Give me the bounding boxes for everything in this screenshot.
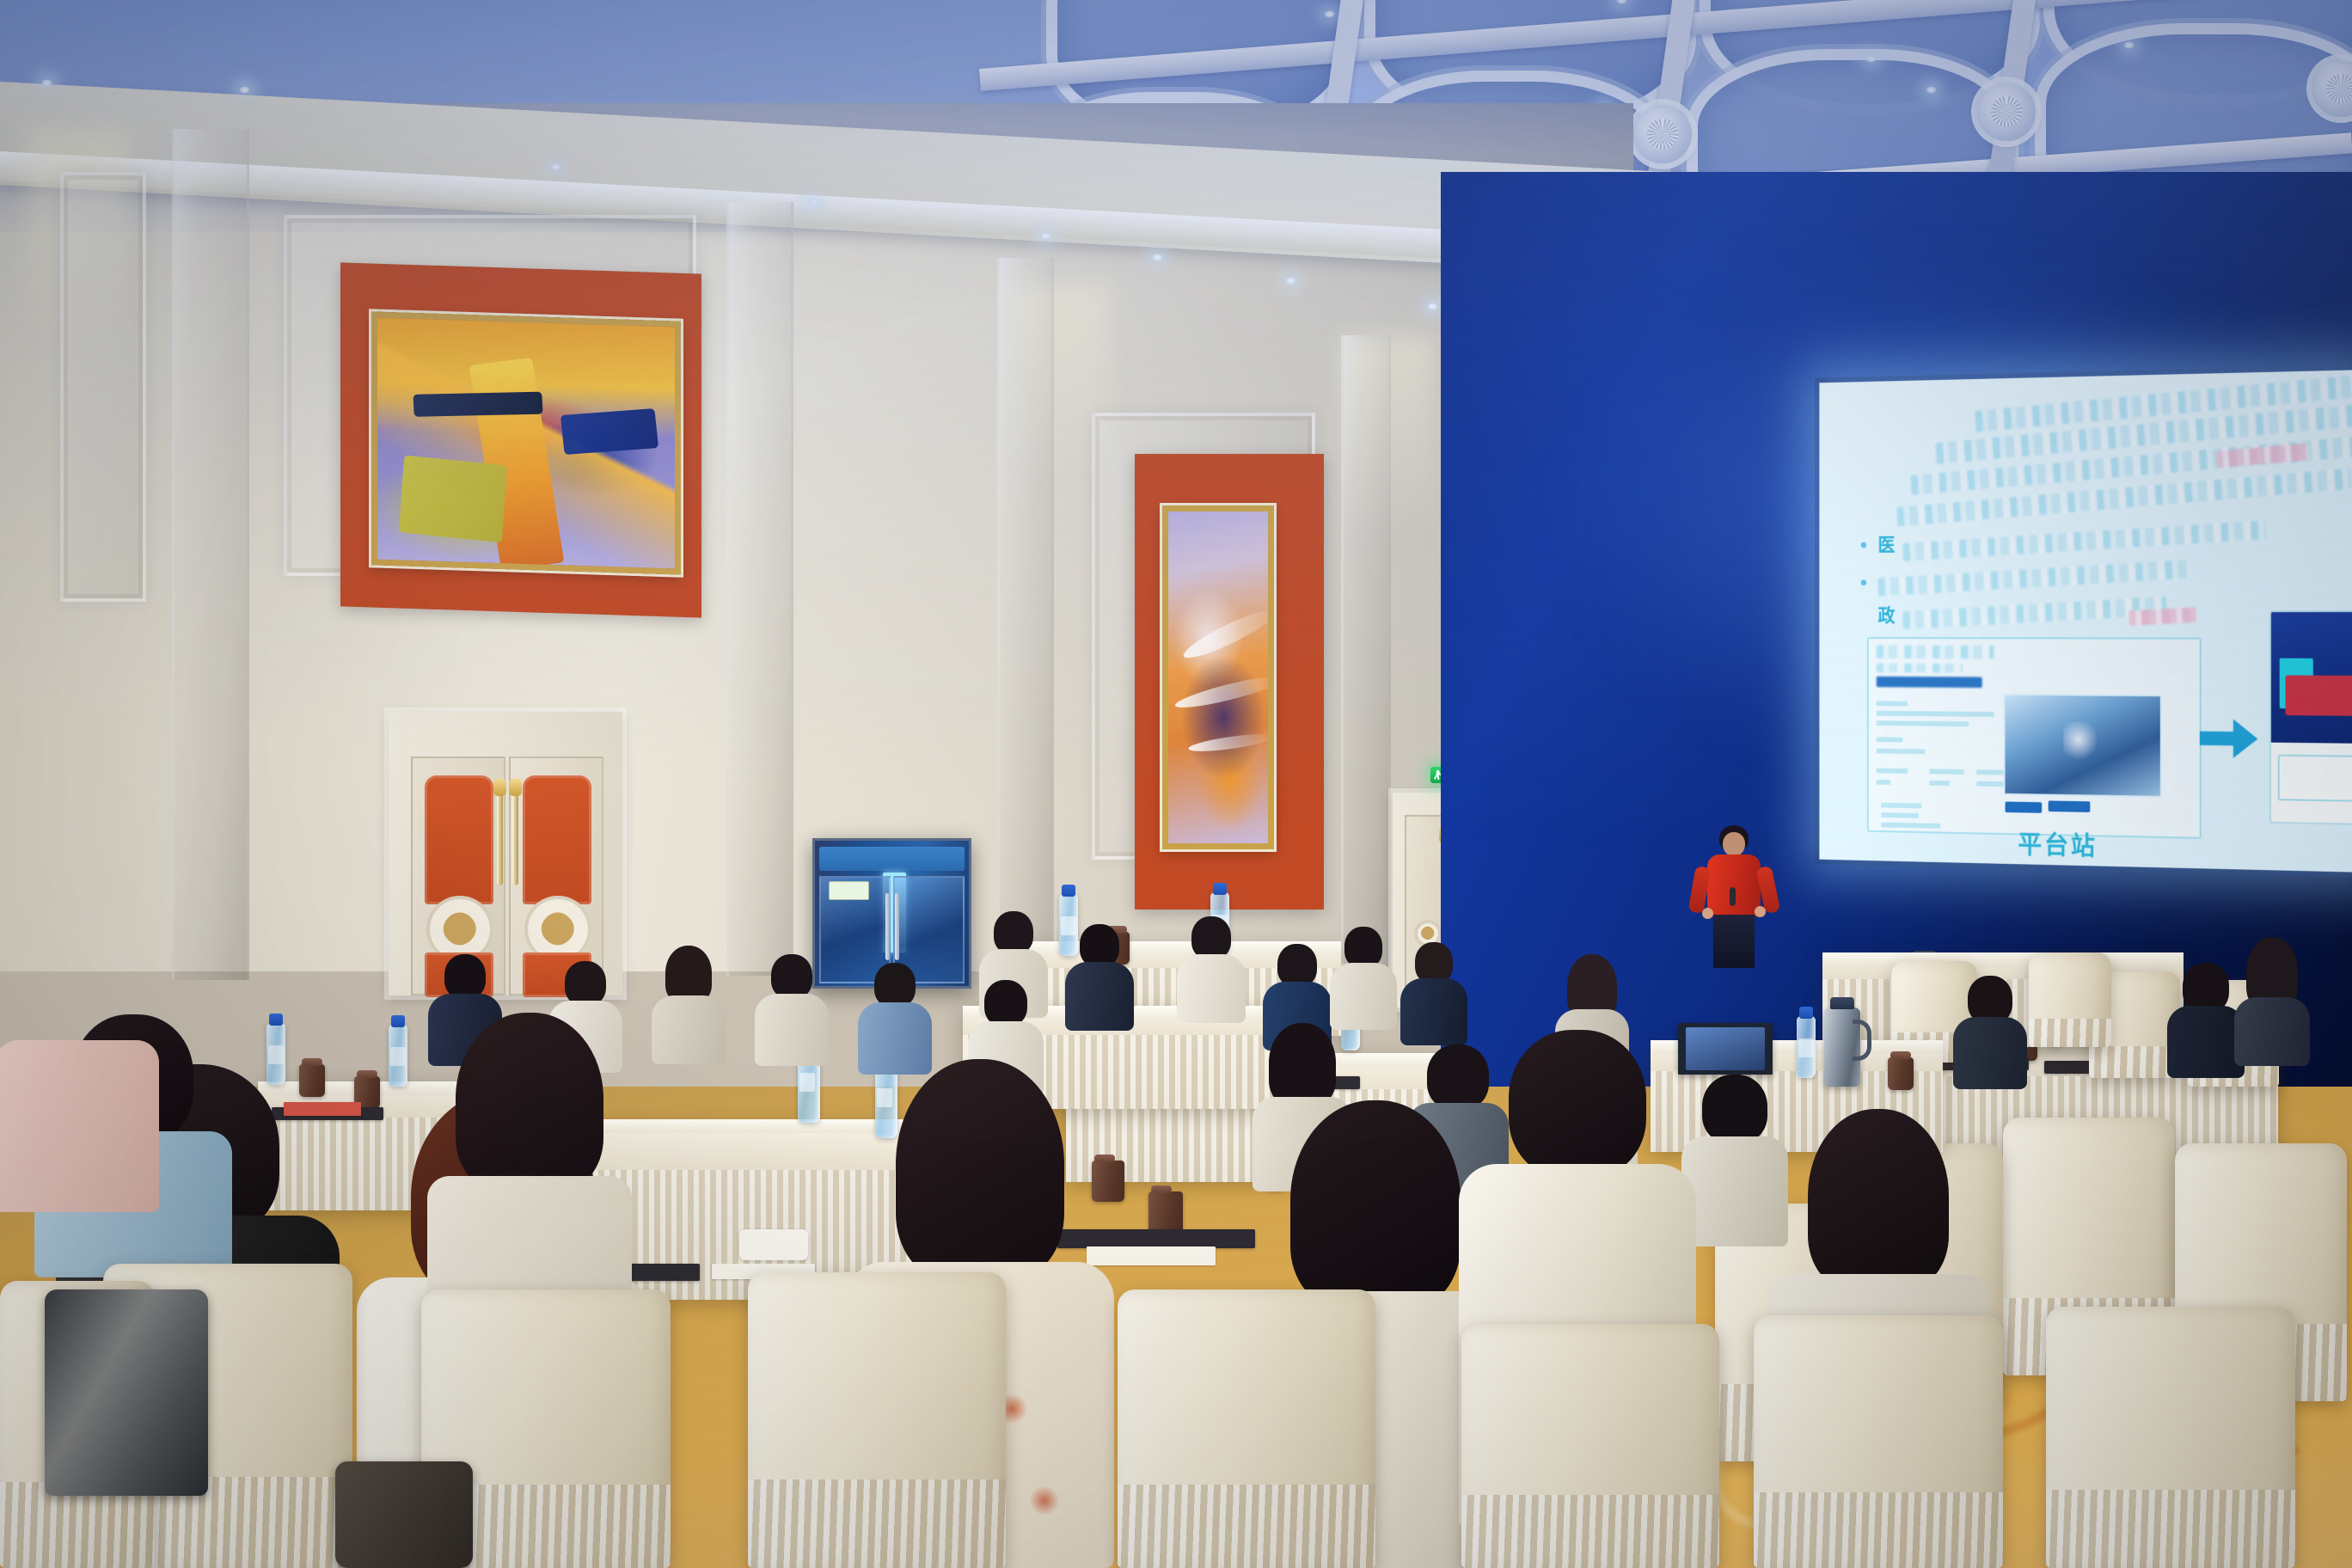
attendee: [1331, 927, 1396, 1030]
tea-cup[interactable]: [1888, 1057, 1914, 1090]
banquet-chair-foreground[interactable]: [1461, 1324, 1719, 1568]
painting-brushstroke: [1188, 732, 1274, 756]
attendee-torso: [1400, 978, 1467, 1045]
attendee-torso: [0, 1040, 159, 1212]
soffit-downlight: [41, 79, 52, 87]
attendee-head: [1415, 942, 1453, 983]
slide-redacted-text: [1902, 520, 2266, 561]
ceiling-rosette: [1633, 105, 1692, 163]
refrigerator-warning-label: [829, 881, 869, 900]
slide-action-chip: [2049, 800, 2091, 812]
slide-redacted-badge: [1877, 677, 1982, 688]
attendee-head: [1702, 1075, 1767, 1143]
soffit-downlight: [1040, 232, 1051, 240]
presenter-skirt: [1713, 915, 1755, 968]
attendee: [1685, 1075, 1785, 1246]
wall-pilaster: [726, 202, 793, 976]
ceiling-downlight: [1865, 55, 1877, 63]
slide-footer-label: 平台站: [2018, 824, 2098, 862]
attendee-hair: [665, 946, 712, 1002]
presenter-jacket: [1707, 854, 1761, 916]
attendee: [756, 954, 827, 1064]
slide-photo-thumbnail: [2004, 694, 2162, 798]
tea-cup[interactable]: [1148, 1191, 1183, 1234]
attendee: [1178, 916, 1245, 1020]
soffit-downlight: [1152, 254, 1163, 261]
backpack[interactable]: [45, 1289, 208, 1496]
water-bottle[interactable]: [1797, 1016, 1816, 1078]
banquet-chair-foreground[interactable]: [748, 1272, 1006, 1568]
attendee-head: [984, 980, 1027, 1026]
handbag[interactable]: [335, 1461, 473, 1568]
microphone[interactable]: [1730, 887, 1736, 906]
ceiling-downlight: [1926, 86, 1937, 94]
banquet-chair[interactable]: [2029, 952, 2111, 1047]
ceiling-downlight: [2123, 41, 2135, 49]
banquet-chair-foreground[interactable]: [1754, 1315, 2003, 1568]
ballroom-door-right-leaf[interactable]: [509, 756, 603, 995]
table-top: [1822, 952, 2184, 966]
presenter-hand-left: [1702, 908, 1713, 919]
phone-lower-card: [2278, 755, 2352, 803]
attendee-head: [1080, 924, 1119, 967]
banquet-chair-foreground[interactable]: [1118, 1289, 1375, 1568]
painting-brushstroke: [1179, 603, 1274, 665]
attendee-hair: [456, 1013, 603, 1191]
artwork-abstract-vertical: [1162, 505, 1274, 849]
attendee: [1951, 976, 2029, 1087]
wall-pilaster: [1341, 335, 1391, 989]
attendee-torso: [427, 1176, 632, 1305]
painting-brushstroke: [560, 408, 658, 455]
slide-redacted-text: [2128, 607, 2196, 626]
slide-bullet-1-cjk: 医: [1878, 530, 1896, 557]
attendee-hair: [1269, 1023, 1336, 1106]
attendee-hair: [1290, 1100, 1461, 1308]
banquet-chair-foreground[interactable]: [2046, 1307, 2295, 1568]
refrigerator-handle[interactable]: [895, 893, 899, 960]
attendee: [1401, 942, 1467, 1045]
slide-transition-arrow-icon: [2200, 719, 2258, 758]
soffit-downlight: [550, 163, 561, 171]
soffit-downlight: [808, 198, 819, 205]
attendee-torso: [755, 994, 829, 1066]
attendee: [1066, 924, 1133, 1027]
attendee: [860, 963, 930, 1073]
attendee-head: [1191, 916, 1231, 959]
presenter-face: [1723, 832, 1745, 856]
attendee-head: [874, 963, 916, 1008]
wall-panel: [60, 172, 146, 602]
artwork-abstract-landscape: [371, 311, 681, 574]
painting-brushstroke: [413, 392, 542, 417]
attendee-head: [994, 911, 1033, 954]
phone-red-banner: [2285, 675, 2352, 715]
slide-redacted-text: [1877, 560, 2190, 597]
door-inlay: [425, 775, 493, 904]
ceiling-downlight: [1324, 10, 1335, 18]
attendee-pink-shirt: [0, 1006, 155, 1212]
slide-redacted-text: [1877, 646, 1994, 659]
slide-bullet-2-cjk: 政: [1878, 601, 1896, 628]
attendee-hair: [896, 1059, 1064, 1279]
presenter-hand-right: [1755, 906, 1766, 917]
soffit-downlight: [239, 86, 250, 94]
attendee-torso: [1177, 954, 1246, 1023]
slide-redacted-text: [1877, 664, 1963, 673]
slide-redacted-text: [1902, 597, 2167, 629]
attendee-torso: [1330, 963, 1397, 1030]
refrigerator-handle[interactable]: [885, 893, 890, 960]
attendee-with-glasses: [426, 1013, 633, 1296]
attendee-head: [1277, 944, 1317, 987]
attendee: [653, 946, 724, 1056]
water-bottle[interactable]: [389, 1025, 407, 1087]
painting-brushstroke: [399, 455, 507, 542]
attendee-torso: [2234, 997, 2310, 1066]
slide-action-chip: [2006, 801, 2043, 812]
attendee-torso: [2167, 1006, 2245, 1078]
attendee-torso: [652, 995, 726, 1064]
projection-screen: 医 政: [1819, 370, 2352, 873]
attendee-hair: [1808, 1109, 1949, 1289]
attendee-torso: [1065, 962, 1134, 1031]
slide-bullet-marker: [1861, 579, 1866, 585]
slide-phone-mockup: [2269, 610, 2352, 826]
presenter: [1687, 822, 1781, 968]
wall-pilaster: [172, 129, 249, 980]
refrigerator-header-panel: [819, 847, 964, 872]
conference-hall-scene: 医 政: [0, 0, 2352, 1568]
attendee-torso: [1953, 1017, 2027, 1089]
door-inlay: [523, 775, 591, 904]
soffit-downlight: [1285, 277, 1296, 285]
ceiling-rosette: [1977, 83, 2036, 141]
soffit-downlight: [1427, 303, 1438, 310]
painting-brushstroke: [1173, 671, 1274, 713]
attendee-head: [1344, 927, 1382, 968]
wall-pilaster: [997, 258, 1054, 980]
attendee-head: [565, 961, 606, 1006]
door-handle[interactable]: [512, 791, 518, 885]
slide-bullet-marker: [1861, 542, 1866, 548]
attendee-head: [1509, 1030, 1646, 1178]
attendee-head: [444, 954, 486, 999]
door-handle[interactable]: [497, 791, 503, 885]
attendee-head: [771, 954, 812, 999]
thermos-flask[interactable]: [1824, 1008, 1860, 1087]
attendee: [2235, 937, 2309, 1049]
slide-canvas: 医 政: [1819, 370, 2352, 873]
folded-napkin: [739, 1229, 808, 1260]
